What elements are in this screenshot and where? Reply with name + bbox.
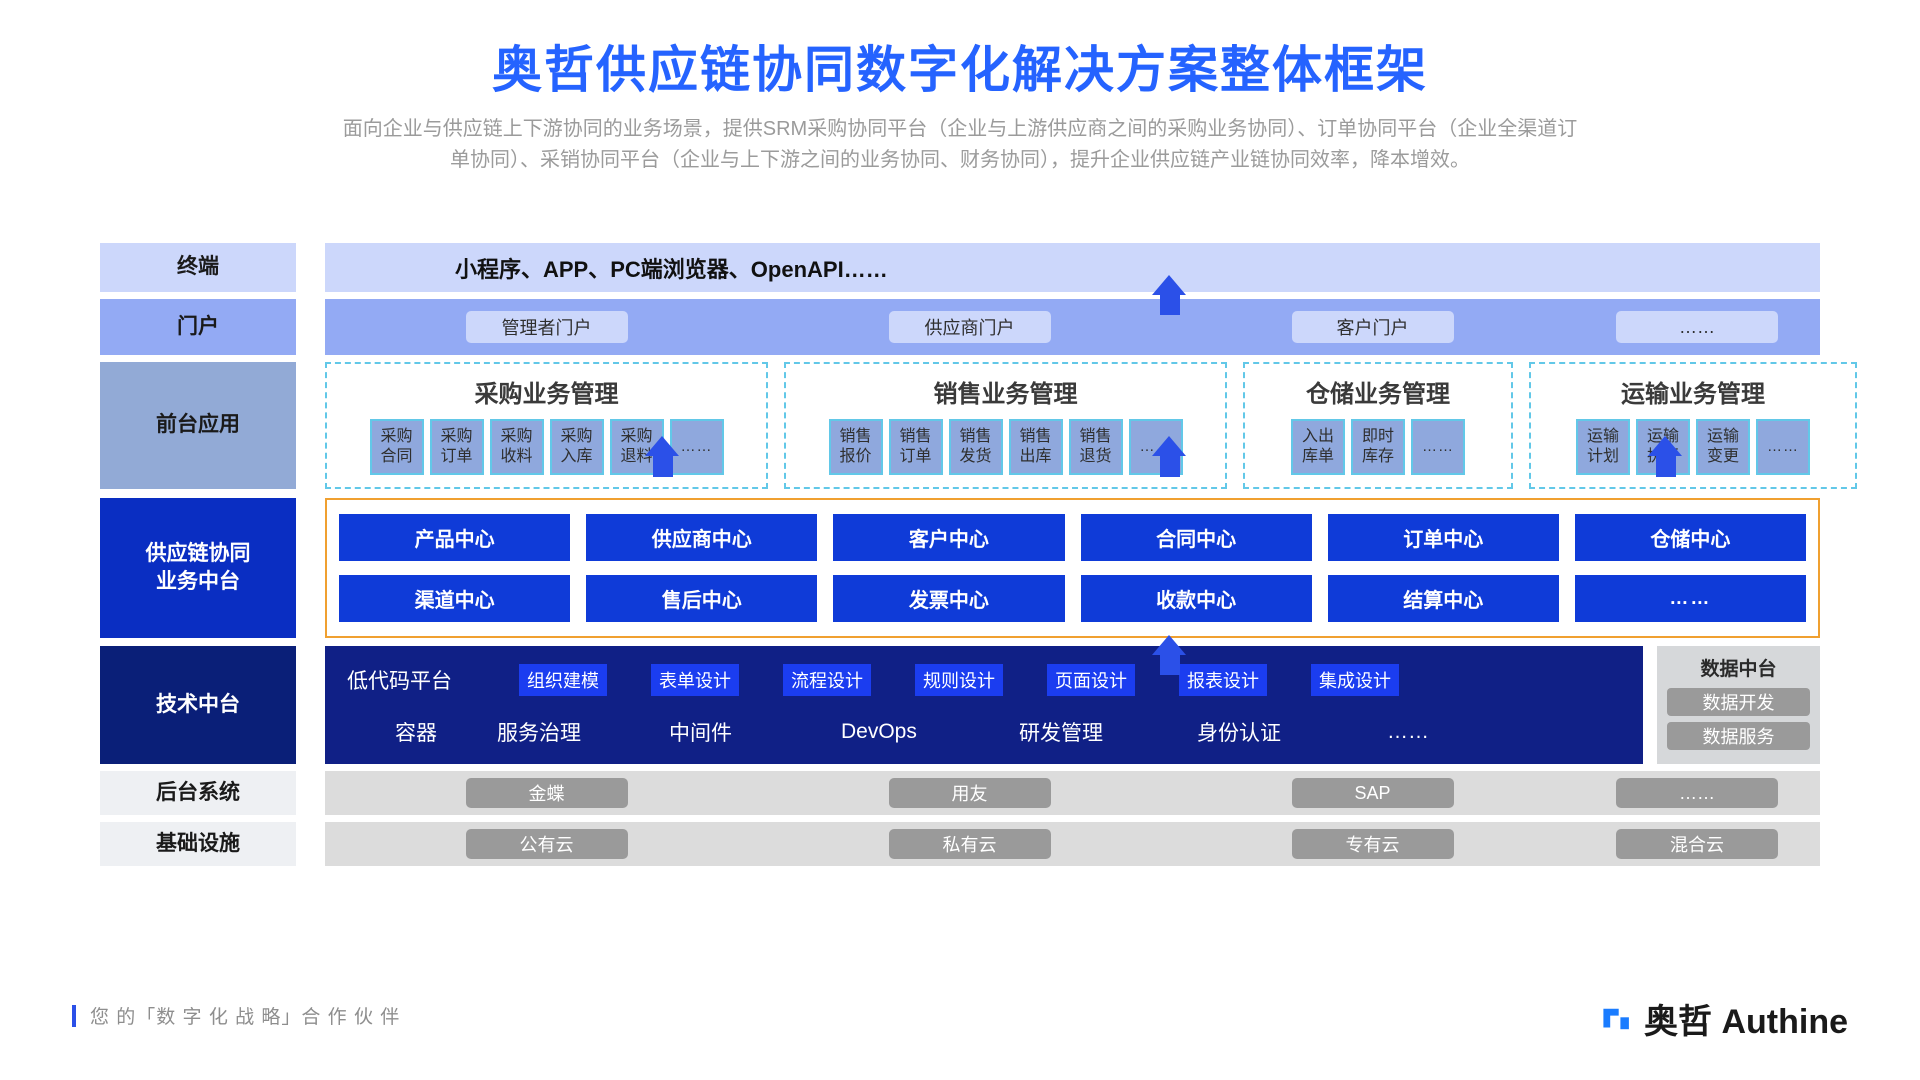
app-chip-sales-order[interactable]: 销售订单 — [889, 419, 943, 475]
architecture-diagram: 终端 小程序、APP、PC端浏览器、OpenAPI…… 门户 管理者门户 供应商… — [100, 243, 1820, 873]
portal-slot-1: 管理者门户 — [325, 311, 768, 343]
arrow-purchase-up — [645, 436, 679, 456]
infra-chip-hybrid-cloud[interactable]: 混合云 — [1616, 829, 1778, 859]
portal-slot-4: …… — [1574, 311, 1820, 343]
portal-chip-bar: 管理者门户 供应商门户 客户门户 …… — [325, 299, 1820, 355]
tech-item-form-design[interactable]: 表单设计 — [651, 664, 739, 696]
row-label-backend-systems: 后台系统 — [100, 771, 296, 815]
row-label-supply-chain-middle-platform: 供应链协同 业务中台 — [100, 498, 296, 638]
backend-slot-1: 金蝶 — [325, 778, 768, 808]
tech-row-design: 低代码平台 组织建模 表单设计 流程设计 规则设计 页面设计 报表设计 集成设计 — [347, 664, 1621, 696]
infra-slot-3: 专有云 — [1171, 829, 1574, 859]
infra-slot-1: 公有云 — [325, 829, 768, 859]
tech-item-integration-design[interactable]: 集成设计 — [1311, 664, 1399, 696]
tech-item-org-modeling[interactable]: 组织建模 — [519, 664, 607, 696]
backend-slot-3: SAP — [1171, 778, 1574, 808]
midbiz-cell-settlement-center[interactable]: 结算中心 — [1328, 575, 1559, 622]
tech-item-container: 容器 — [347, 717, 497, 747]
row-infrastructure: 基础设施 公有云 私有云 专有云 混合云 — [100, 822, 1820, 866]
row-label-terminal: 终端 — [100, 243, 296, 292]
tech-item-identity-auth: 身份认证 — [1197, 717, 1387, 747]
row-label-portal: 门户 — [100, 299, 296, 355]
row-body-infrastructure: 公有云 私有云 专有云 混合云 — [325, 822, 1820, 866]
row-label-midbiz-line1: 供应链协同 — [146, 540, 251, 568]
app-chip-transport-plan[interactable]: 运输计划 — [1576, 419, 1630, 475]
row-terminal: 终端 小程序、APP、PC端浏览器、OpenAPI…… — [100, 243, 1820, 292]
tech-item-process-design[interactable]: 流程设计 — [783, 664, 871, 696]
infra-chip-dedicated-cloud[interactable]: 专有云 — [1292, 829, 1454, 859]
midbiz-cell-more[interactable]: …… — [1575, 575, 1806, 622]
app-chip-sales-quote[interactable]: 销售报价 — [829, 419, 883, 475]
tech-item-service-governance: 服务治理 — [497, 717, 669, 747]
backend-chip-kingdee[interactable]: 金蝶 — [466, 778, 628, 808]
infra-slot-2: 私有云 — [768, 829, 1171, 859]
tech-platform-wrap: 低代码平台 组织建模 表单设计 流程设计 规则设计 页面设计 报表设计 集成设计… — [325, 646, 1820, 764]
footer-slogan: 您 的「数 字 化 战 略」合 作 伙 伴 — [90, 1002, 400, 1029]
app-group-title-sales: 销售业务管理 — [934, 374, 1078, 409]
arrow-tech-up — [1152, 635, 1186, 655]
app-chip-sales-outstock[interactable]: 销售出库 — [1009, 419, 1063, 475]
tech-item-rd-management: 研发管理 — [1019, 717, 1197, 747]
app-group-transport: 运输业务管理 运输计划 运输执行 运输变更 …… — [1529, 362, 1857, 489]
midbiz-cell-supplier-center[interactable]: 供应商中心 — [586, 514, 817, 561]
app-chip-transport-change[interactable]: 运输变更 — [1696, 419, 1750, 475]
subtitle-line-2: 单协同）、采销协同平台（企业与上下游之间的业务协同、财务协同），提升企业供应链产… — [80, 145, 1840, 176]
row-portal: 门户 管理者门户 供应商门户 客户门户 …… — [100, 299, 1820, 355]
footer-slogan-wrap: 您 的「数 字 化 战 略」合 作 伙 伴 — [72, 1002, 400, 1029]
data-middle-platform-panel: 数据中台 数据开发 数据服务 — [1657, 646, 1820, 764]
backend-chip-bar: 金蝶 用友 SAP …… — [325, 771, 1820, 815]
page-subtitle: 面向企业与供应链上下游协同的业务场景，提供SRM采购协同平台（企业与上游供应商之… — [80, 114, 1840, 176]
tech-item-report-design[interactable]: 报表设计 — [1179, 664, 1267, 696]
portal-chip-more[interactable]: …… — [1616, 311, 1778, 343]
midbiz-grid: 产品中心 供应商中心 客户中心 合同中心 订单中心 仓储中心 渠道中心 售后中心… — [339, 514, 1806, 622]
app-chip-purchase-receive[interactable]: 采购收料 — [490, 419, 544, 475]
midbiz-cell-order-center[interactable]: 订单中心 — [1328, 514, 1559, 561]
midbiz-container: 产品中心 供应商中心 客户中心 合同中心 订单中心 仓储中心 渠道中心 售后中心… — [325, 498, 1820, 638]
app-group-title-warehouse: 仓储业务管理 — [1306, 374, 1450, 409]
tech-platform-main: 低代码平台 组织建模 表单设计 流程设计 规则设计 页面设计 报表设计 集成设计… — [325, 646, 1643, 764]
arrow-sales-up — [1152, 436, 1186, 456]
backend-chip-sap[interactable]: SAP — [1292, 778, 1454, 808]
row-body-front-applications: 采购业务管理 采购合同 采购订单 采购收料 采购入库 采购退料 …… 销售业务管… — [325, 362, 1857, 489]
backend-chip-more[interactable]: …… — [1616, 778, 1778, 808]
portal-chip-customer[interactable]: 客户门户 — [1292, 311, 1454, 343]
backend-chip-yonyou[interactable]: 用友 — [889, 778, 1051, 808]
arrow-stem-transport-up — [1656, 455, 1676, 477]
data-platform-chip-service[interactable]: 数据服务 — [1667, 722, 1810, 750]
row-label-front-applications: 前台应用 — [100, 362, 296, 489]
tech-item-rule-design[interactable]: 规则设计 — [915, 664, 1003, 696]
app-chip-wh-inout-order[interactable]: 入出库单 — [1291, 419, 1345, 475]
arrow-portal-up — [1152, 275, 1186, 295]
row-front-applications: 前台应用 采购业务管理 采购合同 采购订单 采购收料 采购入库 采购退料 …… — [100, 362, 1820, 489]
slide-root: 奥哲供应链协同数字化解决方案整体框架 面向企业与供应链上下游协同的业务场景，提供… — [0, 0, 1920, 1080]
app-chip-transport-more[interactable]: …… — [1756, 419, 1810, 475]
terminal-content: 小程序、APP、PC端浏览器、OpenAPI…… — [325, 243, 1820, 292]
row-backend-systems: 后台系统 金蝶 用友 SAP …… — [100, 771, 1820, 815]
footer-accent-bar — [72, 1005, 76, 1027]
backend-slot-4: …… — [1574, 778, 1820, 808]
app-chip-purchase-instock[interactable]: 采购入库 — [550, 419, 604, 475]
infra-chip-bar: 公有云 私有云 专有云 混合云 — [325, 822, 1820, 866]
app-chip-sales-delivery[interactable]: 销售发货 — [949, 419, 1003, 475]
row-label-midbiz-line2: 业务中台 — [146, 568, 251, 596]
tech-item-page-design[interactable]: 页面设计 — [1047, 664, 1135, 696]
midbiz-cell-product-center[interactable]: 产品中心 — [339, 514, 570, 561]
midbiz-cell-invoice-center[interactable]: 发票中心 — [833, 575, 1064, 622]
row-body-terminal: 小程序、APP、PC端浏览器、OpenAPI…… — [325, 243, 1820, 292]
app-chip-purchase-order[interactable]: 采购订单 — [430, 419, 484, 475]
row-body-supply-chain-middle-platform: 产品中心 供应商中心 客户中心 合同中心 订单中心 仓储中心 渠道中心 售后中心… — [325, 498, 1820, 638]
row-label-infrastructure: 基础设施 — [100, 822, 296, 866]
midbiz-cell-warehouse-center[interactable]: 仓储中心 — [1575, 514, 1806, 561]
authine-logo-icon — [1600, 1002, 1634, 1036]
tech-item-lowcode-platform: 低代码平台 — [347, 665, 519, 695]
backend-slot-2: 用友 — [768, 778, 1171, 808]
app-chip-list-transport: 运输计划 运输执行 运输变更 …… — [1576, 419, 1810, 475]
data-platform-chip-development[interactable]: 数据开发 — [1667, 688, 1810, 716]
midbiz-cell-aftersales-center[interactable]: 售后中心 — [586, 575, 817, 622]
infra-slot-4: 混合云 — [1574, 829, 1820, 859]
app-group-purchase: 采购业务管理 采购合同 采购订单 采购收料 采购入库 采购退料 …… — [325, 362, 768, 489]
page-title: 奥哲供应链协同数字化解决方案整体框架 — [0, 0, 1920, 100]
brand-name: 奥哲 Authine — [1644, 994, 1848, 1043]
app-chip-purchase-contract[interactable]: 采购合同 — [370, 419, 424, 475]
row-label-tech-middle-platform: 技术中台 — [100, 646, 296, 764]
midbiz-cell-receipt-center[interactable]: 收款中心 — [1081, 575, 1312, 622]
row-body-tech-middle-platform: 低代码平台 组织建模 表单设计 流程设计 规则设计 页面设计 报表设计 集成设计… — [325, 646, 1820, 764]
app-chip-list-warehouse: 入出库单 即时库存 …… — [1291, 419, 1465, 475]
app-chip-wh-more[interactable]: …… — [1411, 419, 1465, 475]
midbiz-cell-contract-center[interactable]: 合同中心 — [1081, 514, 1312, 561]
row-body-backend-systems: 金蝶 用友 SAP …… — [325, 771, 1820, 815]
portal-slot-3: 客户门户 — [1171, 311, 1574, 343]
infra-chip-public-cloud[interactable]: 公有云 — [466, 829, 628, 859]
app-chip-sales-return[interactable]: 销售退货 — [1069, 419, 1123, 475]
app-group-warehouse: 仓储业务管理 入出库单 即时库存 …… — [1243, 362, 1513, 489]
row-body-portal: 管理者门户 供应商门户 客户门户 …… — [325, 299, 1820, 355]
tech-item-middleware: 中间件 — [669, 717, 841, 747]
footer: 您 的「数 字 化 战 略」合 作 伙 伴 奥哲 Authine — [0, 994, 1920, 1050]
arrow-transport-up — [1648, 436, 1682, 456]
arrow-stem-purchase-up — [653, 455, 673, 477]
arrow-stem-sales-up — [1160, 455, 1180, 477]
tech-item-more: …… — [1387, 720, 1429, 744]
midbiz-cell-customer-center[interactable]: 客户中心 — [833, 514, 1064, 561]
tech-item-devops: DevOps — [841, 720, 1019, 744]
infra-chip-private-cloud[interactable]: 私有云 — [889, 829, 1051, 859]
row-supply-chain-middle-platform: 供应链协同 业务中台 产品中心 供应商中心 客户中心 合同中心 订单中心 仓储中… — [100, 498, 1820, 638]
data-platform-title: 数据中台 — [1700, 654, 1776, 681]
portal-chip-supplier[interactable]: 供应商门户 — [889, 311, 1051, 343]
arrow-stem-portal-up — [1160, 293, 1180, 315]
arrow-stem-tech-up — [1160, 653, 1180, 675]
subtitle-line-1: 面向企业与供应链上下游协同的业务场景，提供SRM采购协同平台（企业与上游供应商之… — [80, 114, 1840, 145]
portal-slot-2: 供应商门户 — [768, 311, 1171, 343]
front-app-groups: 采购业务管理 采购合同 采购订单 采购收料 采购入库 采购退料 …… 销售业务管… — [325, 362, 1857, 489]
midbiz-cell-channel-center[interactable]: 渠道中心 — [339, 575, 570, 622]
row-tech-middle-platform: 技术中台 低代码平台 组织建模 表单设计 流程设计 规则设计 页面设计 报表设计… — [100, 646, 1820, 764]
app-chip-wh-realtime-stock[interactable]: 即时库存 — [1351, 419, 1405, 475]
app-group-title-purchase: 采购业务管理 — [475, 374, 619, 409]
portal-chip-admin[interactable]: 管理者门户 — [466, 311, 628, 343]
brand-logo: 奥哲 Authine — [1600, 994, 1848, 1043]
app-group-title-transport: 运输业务管理 — [1621, 374, 1765, 409]
app-chip-list-sales: 销售报价 销售订单 销售发货 销售出库 销售退货 …… — [829, 419, 1183, 475]
tech-row-infrastructure: 容器 服务治理 中间件 DevOps 研发管理 身份认证 …… — [347, 717, 1621, 747]
